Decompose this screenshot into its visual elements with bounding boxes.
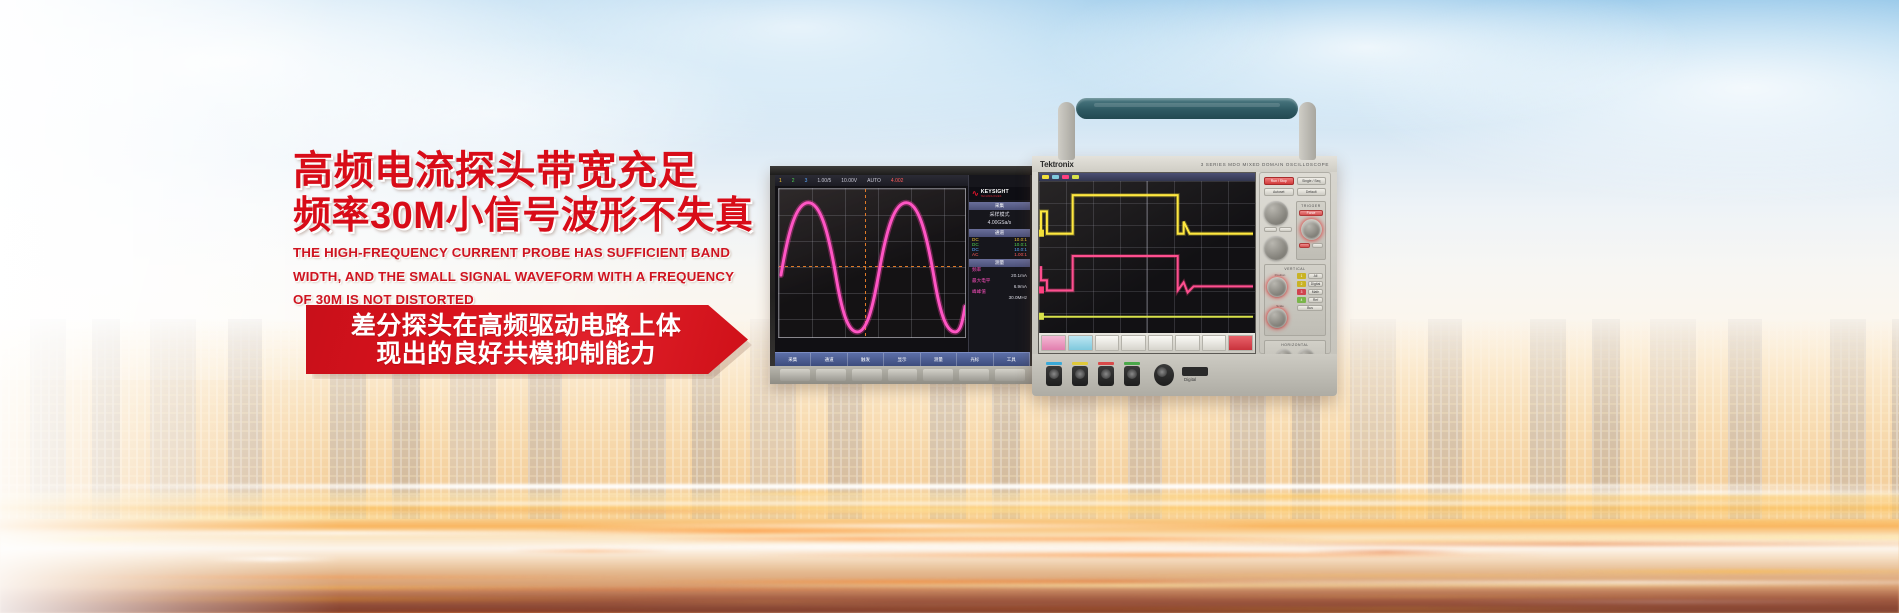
keysight-bezel <box>770 166 1035 175</box>
tektronix-screen-topbar <box>1039 173 1255 181</box>
subtitle-line-2: WIDTH, AND THE SMALL SIGNAL WAVEFORM WIT… <box>293 268 763 287</box>
vertical-section: VERTICAL Position Scale <box>1264 264 1326 336</box>
light-streak <box>1044 575 1766 577</box>
light-streak <box>1526 570 1899 573</box>
light-streak <box>1144 514 1899 515</box>
tektronix-control-panel: Run / Stop Single / Seq Autoset Default <box>1259 172 1331 354</box>
keysight-meas1-label: 频率 <box>972 267 981 273</box>
headline-line-2: 频率30M小信号波形不失真 <box>293 194 763 239</box>
channel-4-button[interactable]: 4 <box>1297 297 1306 303</box>
keysight-ch4-coupling: AC <box>972 252 978 257</box>
keysight-meas2-label: 最大电平 <box>972 278 990 284</box>
tektronix-front-connectors: Digital <box>1032 354 1337 396</box>
keysight-waveform-area: 1 2 3 1.00/5 10.00V AUTO 4.002 <box>775 175 968 352</box>
vertical-position-label: Position <box>1267 273 1293 277</box>
keysight-oscilloscope: 1 2 3 1.00/5 10.00V AUTO 4.002 <box>770 166 1035 384</box>
trigger-level-knob[interactable] <box>1303 221 1320 238</box>
light-streak <box>697 492 895 495</box>
vertical-position-knob[interactable] <box>1268 278 1286 296</box>
headline-line-1: 高频电流探头带宽充足 <box>293 148 763 194</box>
horizontal-section-label: HORIZONTAL <box>1267 343 1323 347</box>
tektronix-waveforms <box>1039 181 1255 333</box>
light-streak <box>1155 542 1899 546</box>
keysight-softkey[interactable]: 光标 <box>957 353 993 366</box>
tektronix-carry-handle <box>1052 98 1322 138</box>
road-highlight-line <box>0 484 1899 489</box>
digital-port-label: Digital <box>1184 377 1196 382</box>
keysight-meas3-value: 30.0MHz <box>1009 295 1027 300</box>
light-streak <box>205 557 340 561</box>
ribbon-text-block: 差分探头在高频驱动电路上体 现出的良好共模抑制能力 <box>326 312 706 368</box>
default-button[interactable]: Default <box>1297 188 1327 196</box>
handle-grip <box>1076 98 1298 119</box>
ref-button[interactable]: Ref <box>1308 297 1323 303</box>
keysight-screen: 1 2 3 1.00/5 10.00V AUTO 4.002 <box>775 175 1030 352</box>
light-streak <box>436 508 1386 511</box>
ribbon-line-1: 差分探头在高频驱动电路上体 <box>326 312 706 340</box>
keysight-meas1-value: 20.1mA <box>1011 273 1027 278</box>
keysight-section-acquire: 采集 <box>969 202 1030 210</box>
keysight-front-button[interactable] <box>780 369 810 381</box>
vertical-scale-knob[interactable] <box>1268 309 1286 327</box>
highlight-ribbon: 差分探头在高频驱动电路上体 现出的良好共模抑制能力 <box>306 305 748 374</box>
bnc-connector-ch2[interactable] <box>1072 366 1088 386</box>
tektronix-model-label: 3 SERIES MDO MIXED DOMAIN OSCILLOSCOPE <box>1201 162 1329 167</box>
digital-port[interactable] <box>1182 367 1208 376</box>
tektronix-menu-key[interactable] <box>1068 335 1093 351</box>
tektronix-menu-key[interactable] <box>1041 335 1066 351</box>
light-streak <box>1306 550 1466 554</box>
keysight-section-measure: 测量 <box>969 259 1030 267</box>
autoset-button[interactable]: Autoset <box>1264 188 1294 196</box>
single-seq-button[interactable]: Single / Seq <box>1297 177 1327 185</box>
keysight-meas2-value: 6.9mA <box>1014 284 1027 289</box>
keysight-acq-mode-label: 采样模式 <box>969 210 1030 219</box>
keysight-sample-readout: 10.00V <box>841 178 857 184</box>
keysight-measurement-row: 30.0MHz <box>969 295 1030 300</box>
tektronix-menu-key[interactable] <box>1228 335 1253 351</box>
keysight-front-button[interactable] <box>888 369 918 381</box>
keysight-graticule <box>778 188 966 338</box>
keysight-front-button[interactable] <box>923 369 953 381</box>
headline-block: 高频电流探头带宽充足 频率30M小信号波形不失真 THE HIGH-FREQUE… <box>293 148 763 310</box>
all-channels-button[interactable]: All <box>1308 273 1323 279</box>
multipurpose-knob-a[interactable] <box>1264 201 1288 225</box>
run-stop-button[interactable]: Run / Stop <box>1264 177 1294 185</box>
light-streak <box>1422 536 1899 538</box>
light-streak <box>1326 490 1899 494</box>
tektronix-graticule <box>1039 181 1255 333</box>
tektronix-screen[interactable] <box>1038 172 1256 354</box>
trigger-mode-button[interactable] <box>1312 243 1323 248</box>
tektronix-screen-menubar[interactable] <box>1039 333 1255 353</box>
ribbon-line-2: 现出的良好共模抑制能力 <box>326 340 706 368</box>
trigger-section-label: TRIGGER <box>1299 204 1323 208</box>
keysight-trigger-readout: 4.002 <box>891 178 904 184</box>
light-streak <box>559 524 1270 528</box>
light-streak <box>0 531 732 535</box>
keysight-softkey[interactable]: 显示 <box>884 353 920 366</box>
keysight-mode-readout: AUTO <box>867 178 881 184</box>
keysight-logo: ∿ KEYSIGHT TECHNOLOGIES <box>969 187 1030 200</box>
handle-leg-left <box>1058 102 1075 160</box>
keysight-softkey[interactable]: 采集 <box>775 353 811 366</box>
keysight-ch4-scale: 1.00:1 <box>1014 252 1027 257</box>
road-highlight-line <box>0 501 1899 506</box>
keysight-status-bar: 1 2 3 1.00/5 10.00V AUTO 4.002 <box>775 175 968 186</box>
tektronix-menu-key[interactable] <box>1202 335 1227 351</box>
keysight-ch1-indicator: 1 <box>779 178 782 184</box>
road-shadow <box>0 587 1899 613</box>
keysight-side-panel: ∿ KEYSIGHT TECHNOLOGIES 采集 采样模式 4.00GSa/… <box>968 175 1030 352</box>
multipurpose-knob-b[interactable] <box>1264 236 1288 260</box>
channel-1-button[interactable]: 1 <box>1297 273 1306 279</box>
vertical-section-label: VERTICAL <box>1267 267 1323 271</box>
keysight-brand-tagline: TECHNOLOGIES <box>981 195 1009 198</box>
handle-leg-right <box>1299 102 1316 160</box>
math-button[interactable]: Math <box>1308 289 1323 295</box>
keysight-softkey-bar[interactable]: 采集 通道 触发 显示 测量 光标 工具 <box>775 352 1030 366</box>
channel-2-button[interactable]: 2 <box>1297 281 1306 287</box>
keysight-front-buttons[interactable] <box>770 366 1035 384</box>
keysight-softkey[interactable]: 通道 <box>811 353 847 366</box>
keysight-ch3-indicator: 3 <box>805 178 808 184</box>
light-streak <box>511 550 671 552</box>
bnc-connector-ch3[interactable] <box>1098 366 1114 386</box>
keysight-meas3-label: 峰峰值 <box>972 289 986 295</box>
channel-3-button[interactable]: 3 <box>1297 289 1306 295</box>
light-streak <box>0 576 667 578</box>
keysight-front-button[interactable] <box>995 369 1025 381</box>
light-streak <box>1202 521 1899 523</box>
tektronix-menu-key[interactable] <box>1148 335 1173 351</box>
aux-connector[interactable] <box>1154 364 1174 386</box>
tektronix-top-bezel: Tektronix 3 SERIES MDO MIXED DOMAIN OSCI… <box>1032 156 1337 172</box>
oscilloscope-product-photo: 1 2 3 1.00/5 10.00V AUTO 4.002 <box>770 128 1350 428</box>
subtitle-line-1: THE HIGH-FREQUENCY CURRENT PROBE HAS SUF… <box>293 244 763 263</box>
keysight-timebase-readout: 1.00/5 <box>817 178 831 184</box>
force-trigger-button[interactable]: Force <box>1299 210 1323 216</box>
tektronix-menu-key[interactable] <box>1175 335 1200 351</box>
tektronix-oscilloscope: Tektronix 3 SERIES MDO MIXED DOMAIN OSCI… <box>1032 156 1337 396</box>
knob-a-button-2[interactable] <box>1279 227 1292 232</box>
keysight-wave-icon: ∿ <box>972 190 979 198</box>
tektronix-brand-name: Tektronix <box>1040 160 1074 169</box>
light-streak <box>481 545 1157 549</box>
knob-a-button[interactable] <box>1264 227 1277 232</box>
keysight-softkey[interactable]: 测量 <box>921 353 957 366</box>
light-streak <box>891 537 1338 541</box>
digital-button[interactable]: Digital <box>1308 281 1323 287</box>
bnc-connector-ch4[interactable] <box>1124 366 1140 386</box>
keysight-ch2-indicator: 2 <box>792 178 795 184</box>
keysight-front-button[interactable] <box>852 369 882 381</box>
keysight-channel-row: AC1.00:1 <box>969 252 1030 257</box>
keysight-softkey[interactable]: 工具 <box>994 353 1030 366</box>
bnc-connector-ch1[interactable] <box>1046 366 1062 386</box>
light-streak <box>0 516 499 520</box>
keysight-front-button[interactable] <box>816 369 846 381</box>
keysight-sine-waveform <box>779 189 965 338</box>
tektronix-menu-key[interactable] <box>1121 335 1146 351</box>
promo-banner: 高频电流探头带宽充足 频率30M小信号波形不失真 THE HIGH-FREQUE… <box>0 0 1899 613</box>
trigger-menu-button[interactable] <box>1299 243 1310 248</box>
light-streak <box>17 537 174 541</box>
light-streak <box>1353 496 1899 499</box>
keysight-softkey[interactable]: 触发 <box>848 353 884 366</box>
bus-button[interactable]: Bus <box>1297 305 1323 311</box>
keysight-front-button[interactable] <box>959 369 989 381</box>
vertical-scale-label: Scale <box>1267 304 1293 308</box>
keysight-acq-rate: 4.00GSa/s <box>969 219 1030 227</box>
keysight-section-channels: 通道 <box>969 229 1030 237</box>
tektronix-menu-key[interactable] <box>1095 335 1120 351</box>
